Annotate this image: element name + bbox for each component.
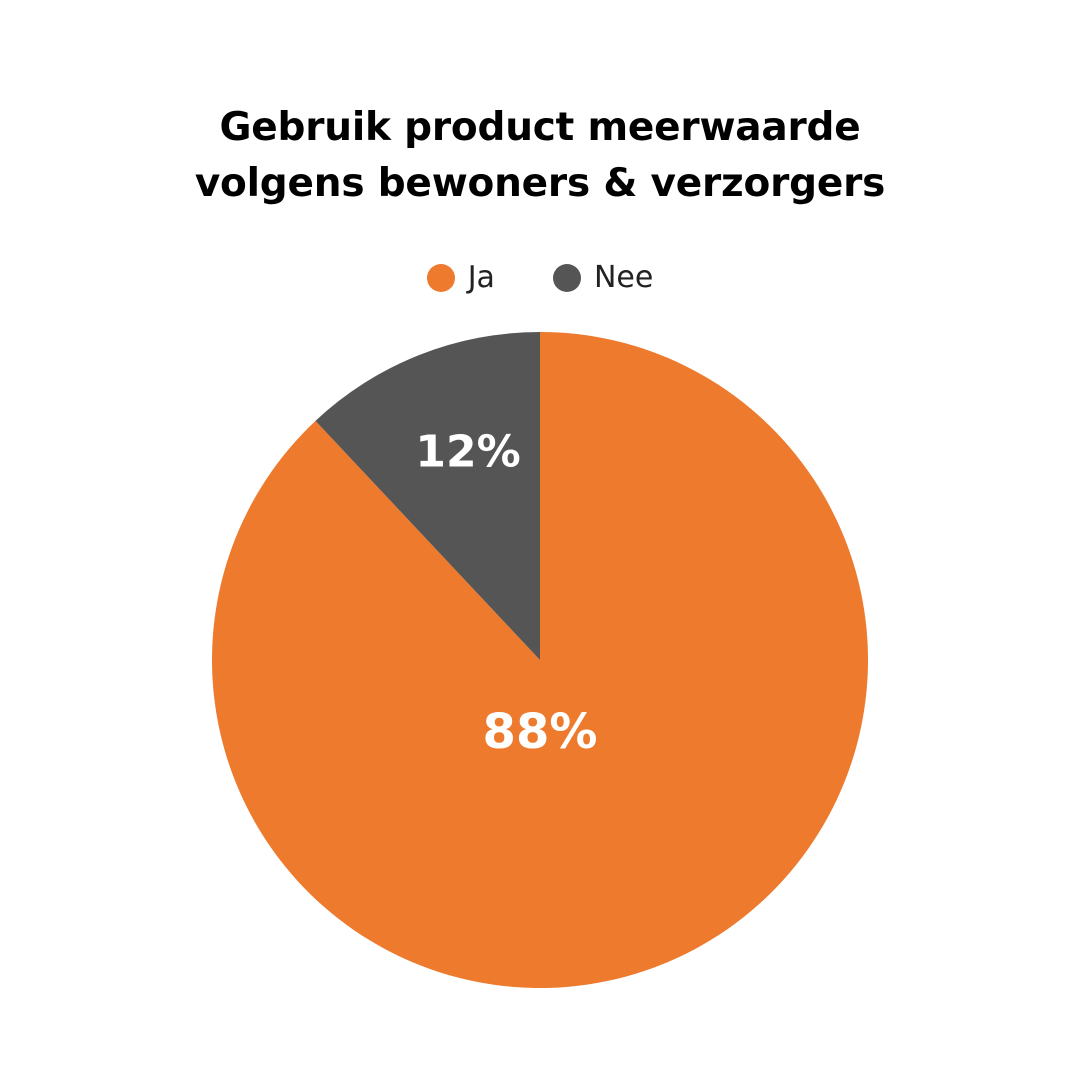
pie-svg xyxy=(212,332,868,988)
legend-label-nee: Nee xyxy=(594,263,653,293)
pie-plot-area xyxy=(212,332,868,988)
legend-item-ja[interactable]: Ja xyxy=(427,263,495,293)
legend-label-ja: Ja xyxy=(468,263,495,293)
legend-item-nee[interactable]: Nee xyxy=(553,263,653,293)
chart-legend: Ja Nee xyxy=(0,263,1080,293)
pie-slice-ja[interactable] xyxy=(212,332,868,988)
legend-swatch-circle-icon-ja xyxy=(427,264,455,292)
legend-swatch-circle-icon-nee xyxy=(553,264,581,292)
chart-title: Gebruik product meerwaarde volgens bewon… xyxy=(0,100,1080,212)
pie-chart-figure: Gebruik product meerwaarde volgens bewon… xyxy=(0,0,1080,1080)
